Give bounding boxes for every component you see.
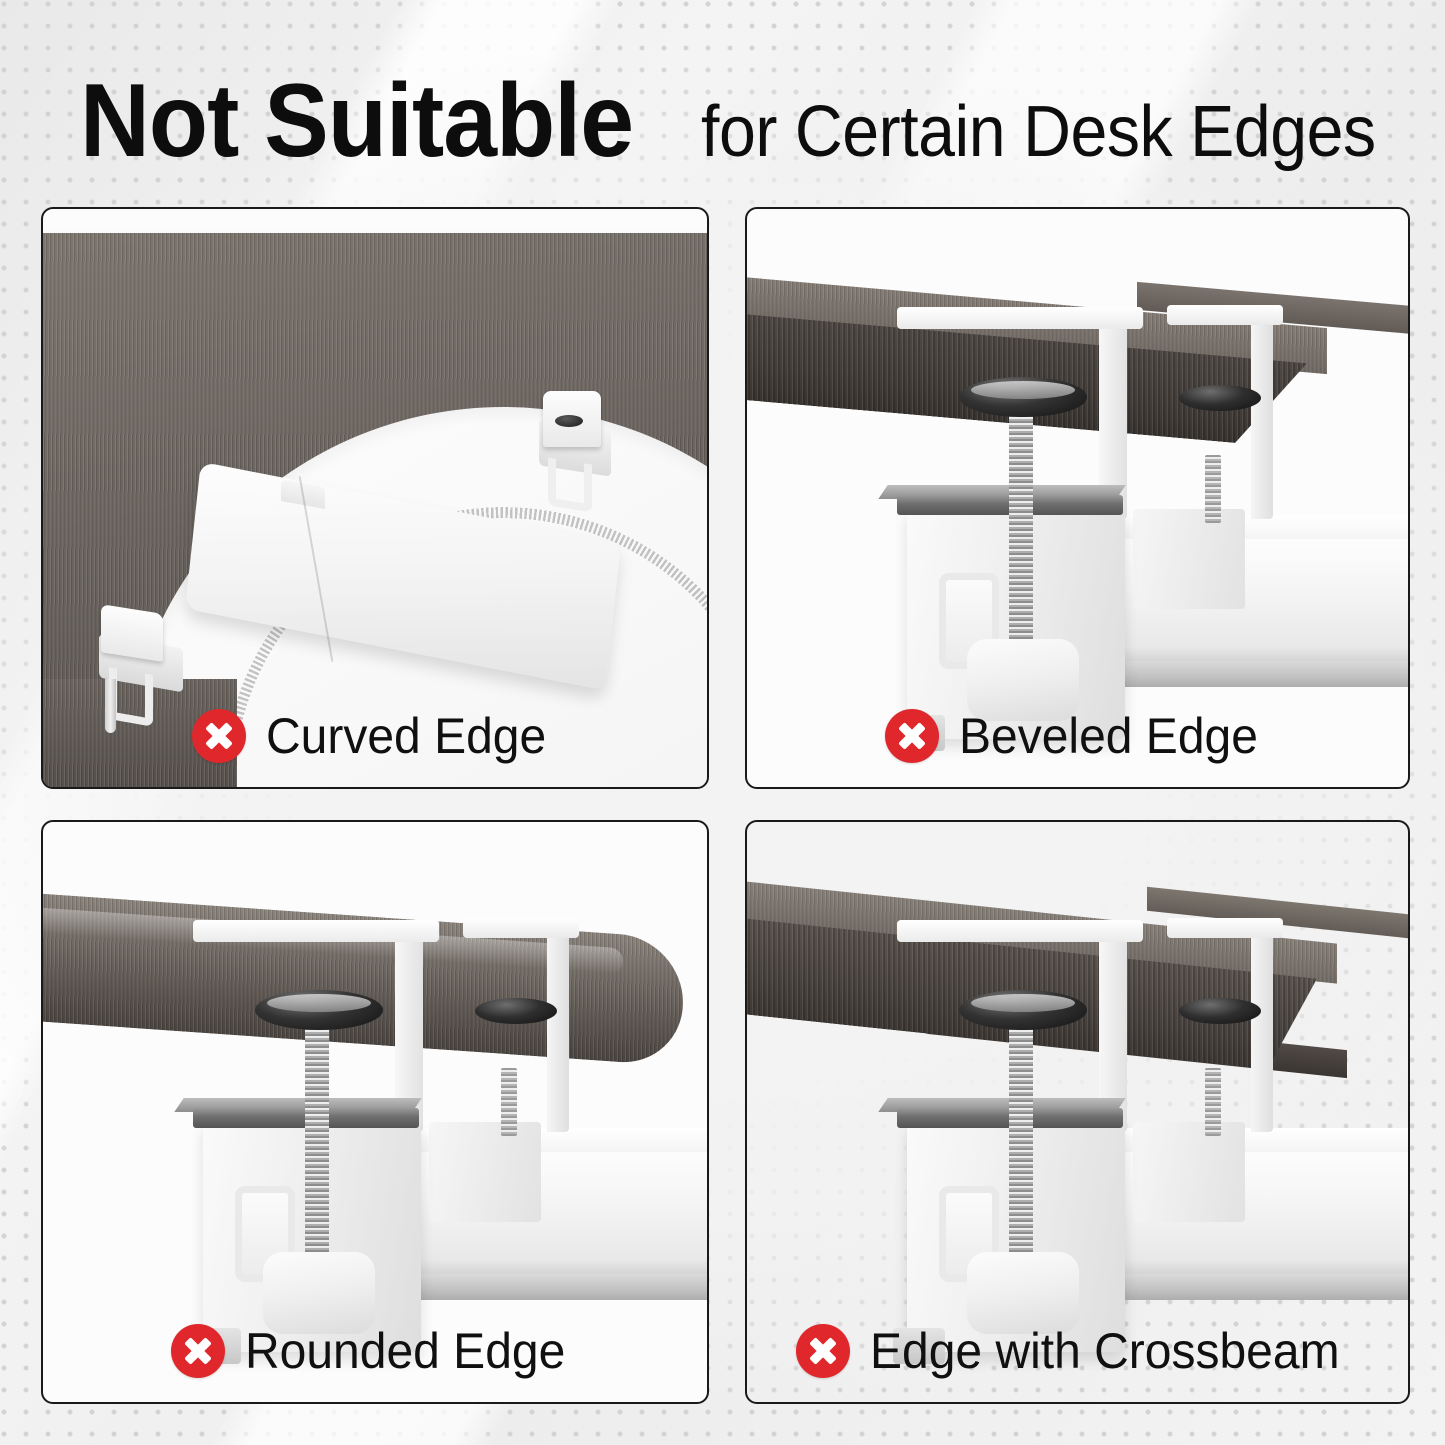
clamp-right-hook	[548, 458, 592, 513]
clamp-knob-ring	[971, 381, 1075, 399]
illustration-beveled-edge	[747, 209, 1408, 787]
clamp-knob-ring	[267, 994, 371, 1012]
clamp-rear-post	[1133, 509, 1245, 609]
panel-curved-edge[interactable]: Curved Edge	[41, 207, 709, 789]
clamp-right-knob	[555, 415, 583, 427]
clamp-rear-jaw	[1167, 918, 1283, 938]
infographic-page: Not Suitablefor Certain Desk Edges Curve…	[0, 0, 1445, 1445]
title-strong: Not Suitable	[80, 62, 633, 181]
clamp-rear-back	[1251, 918, 1273, 1132]
caption-rounded-edge: Rounded Edge	[43, 1322, 707, 1380]
clamp-screw-shaft	[305, 1022, 329, 1272]
panel-beveled-edge[interactable]: Beveled Edge	[745, 207, 1410, 789]
caption-curved-edge: Curved Edge	[43, 707, 707, 765]
clamp-rear-knob	[1179, 385, 1261, 411]
page-title: Not Suitablefor Certain Desk Edges	[80, 62, 1434, 181]
clamp-knob-ring	[971, 994, 1075, 1012]
clamp-rear-back	[547, 918, 569, 1132]
header: Not Suitablefor Certain Desk Edges	[0, 0, 1445, 200]
clamp-rear-knob	[1179, 998, 1261, 1024]
clamp-rear-jaw	[463, 918, 579, 938]
clamp-rear-screw	[1205, 1068, 1221, 1136]
panel-rounded-edge[interactable]: Rounded Edge	[41, 820, 709, 1404]
caption-label: Curved Edge	[266, 707, 546, 765]
illustration-curved-edge	[43, 209, 707, 787]
caption-label: Beveled Edge	[959, 707, 1258, 765]
caption-label: Edge with Crossbeam	[870, 1322, 1340, 1380]
panel-edge-with-crossbeam[interactable]: Edge with Crossbeam	[745, 820, 1410, 1404]
illustration-edge-with-crossbeam	[747, 822, 1408, 1402]
clamp-rear-post	[1133, 1122, 1245, 1222]
title-light: for Certain Desk Edges	[701, 91, 1376, 173]
x-circle-icon	[171, 1324, 225, 1378]
clamp-left-jaw	[101, 604, 163, 662]
x-circle-icon	[796, 1324, 850, 1378]
clamp-upper-jaw	[897, 307, 1143, 329]
clamp-rear-back	[1251, 305, 1273, 519]
clamp-rear-post	[429, 1122, 541, 1222]
clamp-rear-jaw	[1167, 305, 1283, 325]
clamp-screw-shaft	[1009, 1022, 1033, 1272]
clamp-upper-jaw	[193, 920, 439, 942]
clamp-screw-shaft	[1009, 409, 1033, 659]
x-circle-icon	[885, 709, 939, 763]
caption-edge-with-crossbeam: Edge with Crossbeam	[747, 1322, 1408, 1380]
clamp-rear-screw	[1205, 455, 1221, 523]
clamp-upper-jaw	[897, 920, 1143, 942]
illustration-rounded-edge	[43, 822, 707, 1402]
caption-label: Rounded Edge	[245, 1322, 565, 1380]
caption-beveled-edge: Beveled Edge	[747, 707, 1408, 765]
clamp-rear-knob	[475, 998, 557, 1024]
clamp-rear-screw	[501, 1068, 517, 1136]
x-circle-icon	[192, 709, 246, 763]
